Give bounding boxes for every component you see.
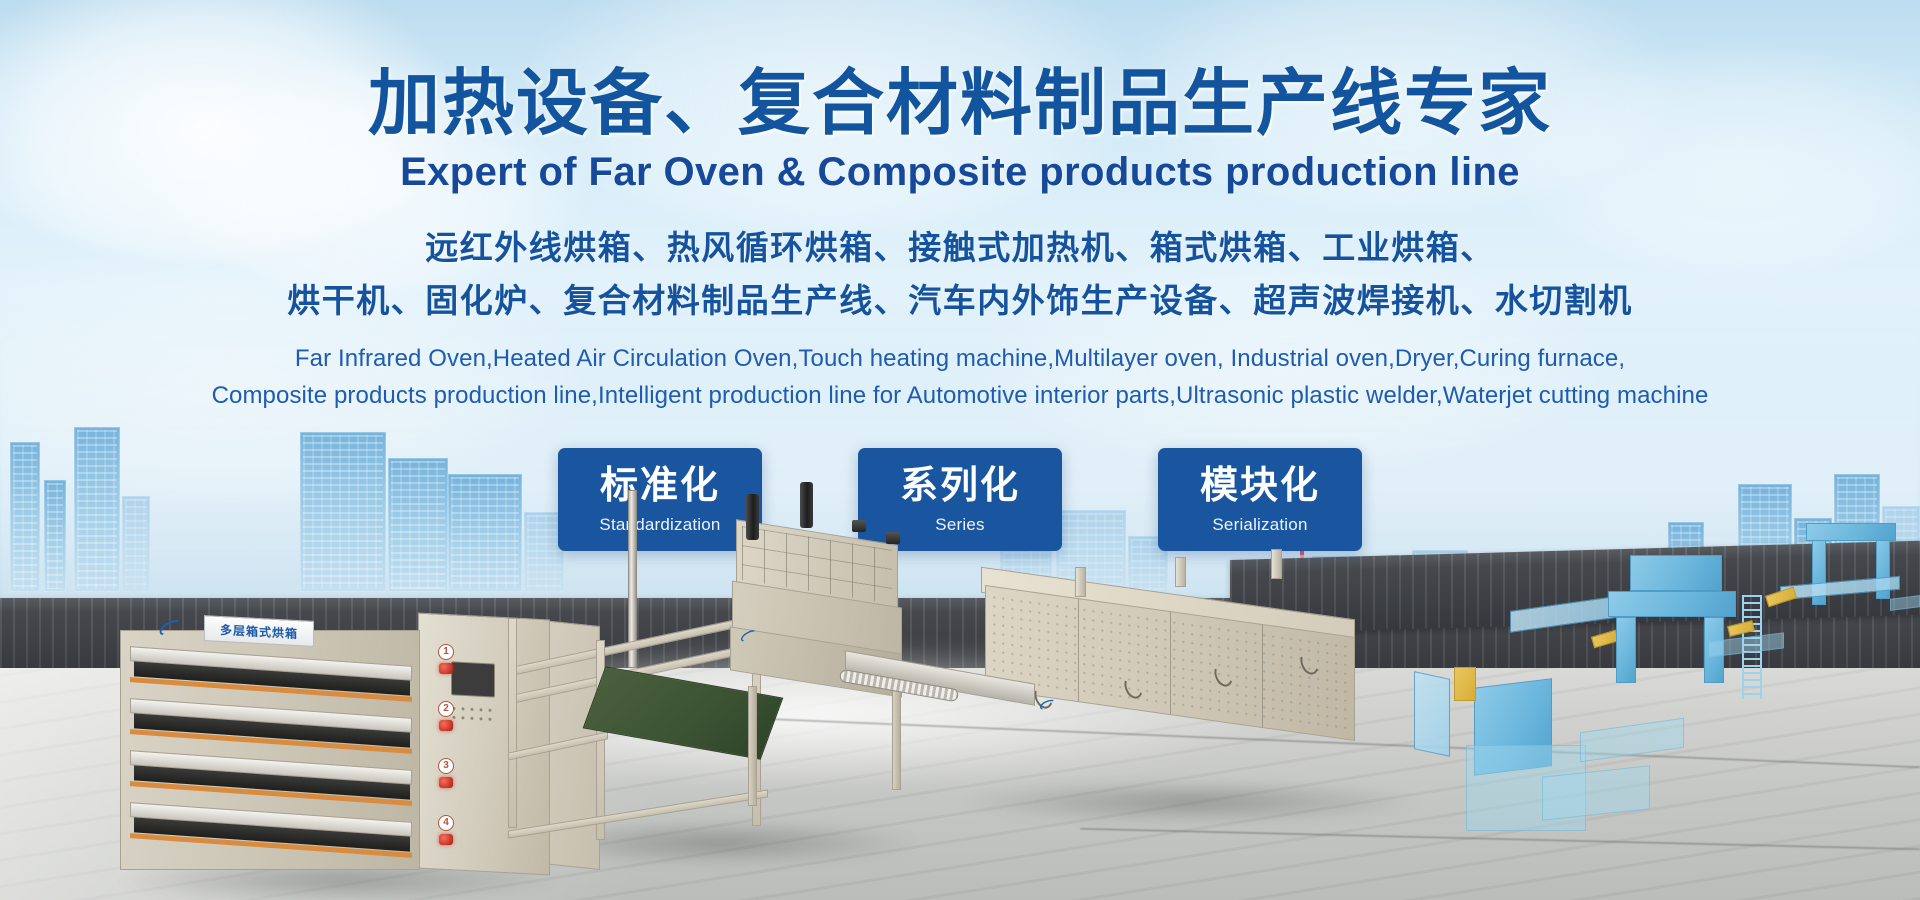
promo-banner: 加热设备、复合材料制品生产线专家 Expert of Far Oven & Co…	[0, 0, 1920, 900]
indicator-number: 1	[438, 644, 454, 660]
press-stub-icon	[852, 520, 866, 532]
oven-indicator-3[interactable]: 3	[438, 758, 464, 802]
blue-press-top	[1630, 555, 1722, 591]
blue-cabinet	[1414, 671, 1450, 757]
oven-tray	[130, 760, 412, 802]
indicator-lamp-icon	[439, 663, 453, 674]
blue-rail	[1510, 595, 1622, 633]
press-support-leg	[748, 686, 757, 806]
tunnel-exhaust-stack	[1075, 567, 1086, 597]
blue-gantry-beam	[1806, 523, 1896, 541]
blue-press-leg	[1616, 617, 1636, 683]
oven-indicator-column: 1 2 3 4	[438, 644, 464, 864]
machinery-illustration: 多层箱式烘箱 1 2 3 4	[0, 0, 1920, 900]
yellow-robot-arm	[1765, 587, 1797, 608]
indicator-lamp-icon	[439, 777, 453, 788]
yellow-robot-arm	[1591, 630, 1619, 649]
brand-swoosh-icon	[158, 621, 200, 643]
indicator-lamp-icon	[439, 720, 453, 731]
press-frame-bar	[514, 614, 762, 676]
blue-tray-ghost	[1890, 595, 1920, 611]
tunnel-oven[interactable]	[975, 575, 1395, 795]
oven-nameplate-text: 多层箱式烘箱	[220, 620, 298, 641]
blue-press-platen	[1608, 591, 1736, 617]
indicator-number: 4	[438, 815, 454, 831]
press-stub-icon	[886, 532, 900, 544]
brand-swoosh-icon	[1035, 697, 1061, 712]
indicator-number: 2	[438, 701, 454, 717]
tunnel-exhaust-stack	[1175, 557, 1186, 587]
oven-tray	[130, 656, 412, 698]
press-nozzle-icon	[800, 482, 813, 528]
press-frame-post	[508, 618, 517, 828]
downstream-blue-line[interactable]	[1480, 615, 1920, 875]
indicator-number: 3	[438, 758, 454, 774]
multilayer-box-oven[interactable]: 多层箱式烘箱 1 2 3 4	[120, 630, 550, 900]
blue-tube-ghost	[1580, 718, 1684, 763]
oven-tray	[130, 708, 412, 750]
oven-indicator-2[interactable]: 2	[438, 701, 464, 745]
tunnel-exhaust-stack	[1271, 549, 1282, 579]
oven-tray	[130, 812, 412, 854]
press-frame-bar	[508, 731, 608, 760]
brand-swoosh-icon	[736, 630, 762, 641]
indicator-lamp-icon	[439, 834, 453, 845]
press-nozzle-icon	[746, 494, 759, 540]
press-frame-bar	[508, 789, 768, 838]
oven-indicator-1[interactable]: 1	[438, 644, 464, 688]
oven-indicator-4[interactable]: 4	[438, 815, 464, 859]
yellow-robot-arm	[1454, 667, 1476, 701]
